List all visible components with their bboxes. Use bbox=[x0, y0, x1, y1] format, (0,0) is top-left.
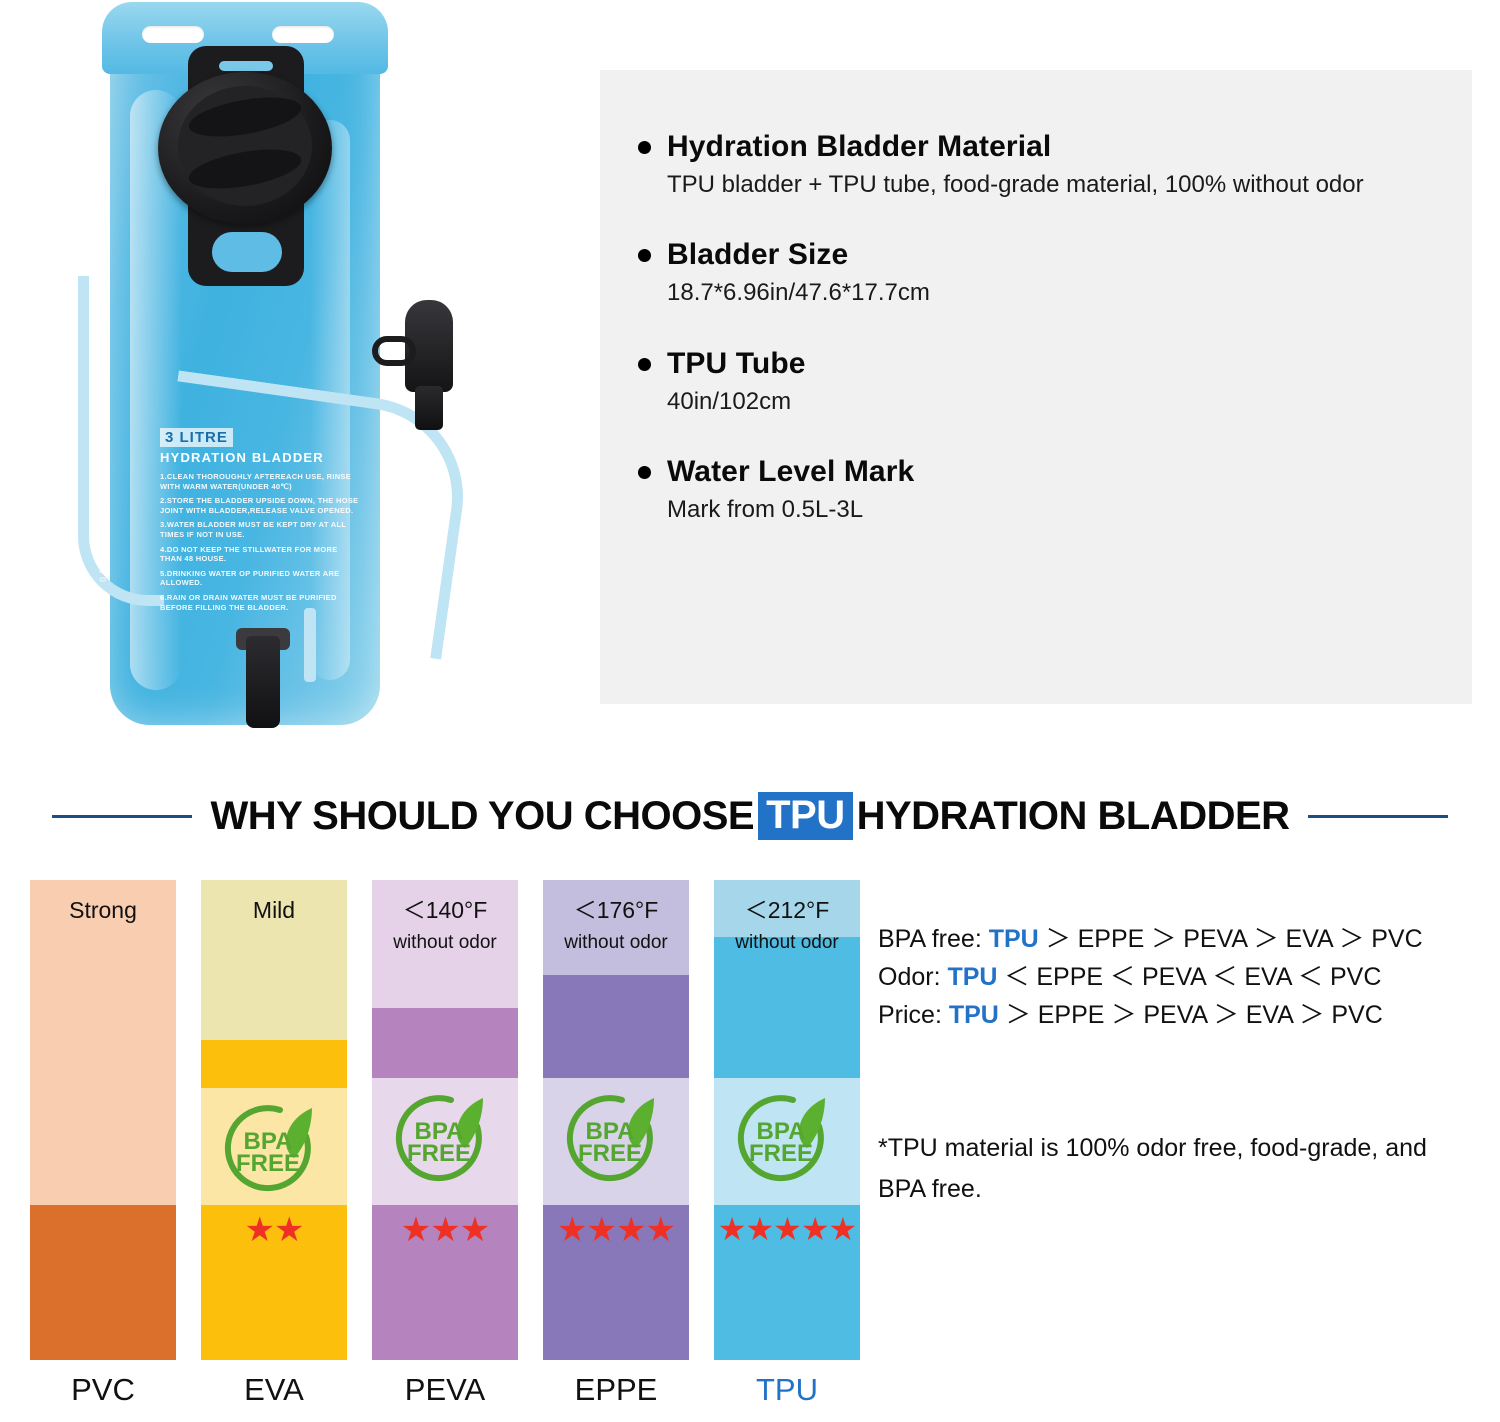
band-accent bbox=[714, 937, 860, 1078]
ranking-highlight: TPU bbox=[949, 1001, 999, 1029]
instruction-line: 2.STORE THE BLADDER UPSIDE DOWN, THE HOS… bbox=[160, 496, 360, 515]
band-accent bbox=[372, 1008, 518, 1078]
specifications-list: Hydration Bladder Material TPU bladder +… bbox=[600, 70, 1472, 527]
odor-level: Mild bbox=[201, 898, 347, 924]
svg-text:FREE: FREE bbox=[578, 1140, 642, 1167]
chart-column-eva: Mild BPA FREE ★★ bbox=[201, 880, 347, 1360]
headline-text: WHY SHOULD YOU CHOOSE TPU HYDRATION BLAD… bbox=[210, 792, 1289, 840]
spec-title: TPU Tube bbox=[667, 345, 806, 382]
spec-item-size: Bladder Size 18.7*6.96in/47.6*17.7cm bbox=[638, 236, 1472, 310]
chart-label-eppe: EPPE bbox=[543, 1372, 689, 1408]
bpa-free-icon: BPA FREE bbox=[562, 1092, 670, 1188]
spec-title: Hydration Bladder Material bbox=[667, 128, 1364, 165]
star-rating: ★★ bbox=[201, 1213, 347, 1247]
chart-label-eva: EVA bbox=[201, 1372, 347, 1408]
graduation-mark-1-5: 1.5 bbox=[98, 388, 108, 402]
column-header-pvc: Strong bbox=[30, 880, 176, 924]
spec-description: 18.7*6.96in/47.6*17.7cm bbox=[667, 276, 930, 310]
band-light bbox=[30, 880, 176, 1205]
band-accent bbox=[201, 1040, 347, 1088]
headline-rule-left bbox=[52, 815, 192, 818]
instruction-line: 1.CLEAN THOROUGHLY AFTEREACH USE, RINSE … bbox=[160, 472, 360, 491]
spec-item-water-level: Water Level Mark Mark from 0.5L-3L bbox=[638, 453, 1472, 527]
star-rating: ★★★ bbox=[372, 1213, 518, 1247]
ranking-price: Price: TPU ＞ EPPE ＞ PEVA ＞ EVA ＞ PVC bbox=[878, 996, 1488, 1034]
svg-text:FREE: FREE bbox=[236, 1150, 300, 1177]
star-rating: ★★★★ bbox=[543, 1213, 689, 1247]
bite-valve-loop bbox=[372, 336, 416, 366]
chart-label-tpu: TPU bbox=[714, 1372, 860, 1408]
product-image: 3.0 2.5 2.0 1.5 1.0 0.5 3 LITRE HYDRATIO… bbox=[60, 0, 560, 760]
temperature-limit: ＜176°F bbox=[543, 898, 689, 924]
label-product-name: HYDRATION BLADDER bbox=[160, 450, 360, 465]
bullet-icon bbox=[638, 466, 651, 479]
ranking-list: BPA free: TPU ＞ EPPE ＞ PEVA ＞ EVA ＞ PVC … bbox=[878, 920, 1488, 1034]
ranking-rest: ＞ EPPE ＞ PEVA ＞ EVA ＞ PVC bbox=[1039, 925, 1423, 953]
ranking-bpa-free: BPA free: TPU ＞ EPPE ＞ PEVA ＞ EVA ＞ PVC bbox=[878, 920, 1488, 958]
star-rating: ★★★★★ bbox=[714, 1213, 860, 1245]
spec-description: 40in/102cm bbox=[667, 385, 806, 419]
ranking-rest: ＞ EPPE ＞ PEVA ＞ EVA ＞ PVC bbox=[999, 1001, 1383, 1029]
chart-column-tpu: ＜212°F without odor BPA FREE ★★★★★ bbox=[714, 880, 860, 1360]
cap-handle-hole bbox=[212, 232, 282, 272]
temperature-limit: ＜140°F bbox=[372, 898, 518, 924]
product-overview-section: 3.0 2.5 2.0 1.5 1.0 0.5 3 LITRE HYDRATIO… bbox=[0, 0, 1500, 770]
footnote-text: *TPU material is 100% odor free, food-gr… bbox=[878, 1128, 1478, 1209]
chart-label-pvc: PVC bbox=[30, 1372, 176, 1408]
spec-description: Mark from 0.5L-3L bbox=[667, 493, 914, 527]
column-header-tpu: ＜212°F without odor bbox=[714, 880, 860, 954]
headline-before: WHY SHOULD YOU CHOOSE bbox=[210, 794, 754, 839]
bullet-icon bbox=[638, 249, 651, 262]
bpa-free-icon: BPA FREE bbox=[220, 1102, 328, 1198]
headline-rule-right bbox=[1308, 815, 1448, 818]
ranking-prefix: Odor: bbox=[878, 963, 941, 991]
drain-plug bbox=[246, 636, 280, 728]
svg-text:FREE: FREE bbox=[749, 1140, 813, 1167]
hanging-slot-right bbox=[272, 26, 334, 43]
bpa-free-icon: BPA FREE bbox=[391, 1092, 499, 1188]
odor-note: without odor bbox=[714, 932, 860, 954]
column-header-peva: ＜140°F without odor bbox=[372, 880, 518, 954]
headline-after: HYDRATION BLADDER bbox=[857, 794, 1290, 839]
chart-column-peva: ＜140°F without odor BPA FREE ★★★ bbox=[372, 880, 518, 1360]
graduation-mark-2-0: 2.0 bbox=[98, 298, 108, 312]
label-capacity: 3 LITRE bbox=[160, 428, 233, 447]
odor-note: without odor bbox=[372, 932, 518, 954]
graduation-mark-3-0: 3.0 bbox=[98, 118, 108, 132]
graduation-mark-1-0: 1.0 bbox=[98, 478, 108, 492]
odor-level: Strong bbox=[30, 898, 176, 924]
bullet-icon bbox=[638, 141, 651, 154]
spec-description: TPU bladder + TPU tube, food-grade mater… bbox=[667, 168, 1364, 202]
specifications-panel: Hydration Bladder Material TPU bladder +… bbox=[600, 70, 1472, 704]
ranking-prefix: Price: bbox=[878, 1001, 942, 1029]
ranking-highlight: TPU bbox=[947, 963, 997, 991]
spec-item-material: Hydration Bladder Material TPU bladder +… bbox=[638, 128, 1472, 202]
instruction-line: 3.WATER BLADDER MUST BE KEPT DRY AT ALL … bbox=[160, 520, 360, 539]
svg-text:FREE: FREE bbox=[407, 1140, 471, 1167]
ranking-rest: ＜ EPPE ＜ PEVA ＜ EVA ＜ PVC bbox=[997, 963, 1381, 991]
temperature-limit: ＜212°F bbox=[714, 898, 860, 924]
ranking-highlight: TPU bbox=[989, 925, 1039, 953]
chart-column-pvc: Strong bbox=[30, 880, 176, 1360]
bite-valve-neck bbox=[415, 386, 443, 430]
column-header-eva: Mild bbox=[201, 880, 347, 924]
headline-highlight-tpu: TPU bbox=[758, 792, 853, 840]
material-comparison-chart: Strong PVC Mild BPA FREE ★★ EVA ＜140°F bbox=[0, 880, 880, 1422]
product-label: 3 LITRE HYDRATION BLADDER 1.CLEAN THOROU… bbox=[160, 428, 360, 617]
hose-left-segment bbox=[78, 276, 164, 606]
chart-column-eppe: ＜176°F without odor BPA FREE ★★★★ bbox=[543, 880, 689, 1360]
section-headline: WHY SHOULD YOU CHOOSE TPU HYDRATION BLAD… bbox=[0, 783, 1500, 849]
instruction-line: 4.DO NOT KEEP THE STILLWATER FOR MORE TH… bbox=[160, 545, 360, 564]
instruction-line: 5.DRINKING WATER OP PURIFIED WATER ARE A… bbox=[160, 569, 360, 588]
spec-title: Water Level Mark bbox=[667, 453, 914, 490]
spec-title: Bladder Size bbox=[667, 236, 930, 273]
hanging-slot-left bbox=[142, 26, 204, 43]
bullet-icon bbox=[638, 358, 651, 371]
column-header-eppe: ＜176°F without odor bbox=[543, 880, 689, 954]
label-instructions: 1.CLEAN THOROUGHLY AFTEREACH USE, RINSE … bbox=[160, 472, 360, 612]
bpa-free-icon: BPA FREE bbox=[733, 1092, 841, 1188]
band-accent bbox=[543, 975, 689, 1078]
hose-lower-segment bbox=[304, 608, 316, 682]
odor-note: without odor bbox=[543, 932, 689, 954]
spec-item-tube: TPU Tube 40in/102cm bbox=[638, 345, 1472, 419]
graduation-mark-0-5: 0.5 bbox=[98, 568, 108, 582]
graduation-mark-2-5: 2.5 bbox=[98, 208, 108, 222]
instruction-line: 6.RAIN OR DRAIN WATER MUST BE PURIFIED B… bbox=[160, 593, 360, 612]
chart-label-peva: PEVA bbox=[372, 1372, 518, 1408]
band-dark bbox=[30, 1205, 176, 1360]
ranking-prefix: BPA free: bbox=[878, 925, 982, 953]
ranking-odor: Odor: TPU ＜ EPPE ＜ PEVA ＜ EVA ＜ PVC bbox=[878, 958, 1488, 996]
